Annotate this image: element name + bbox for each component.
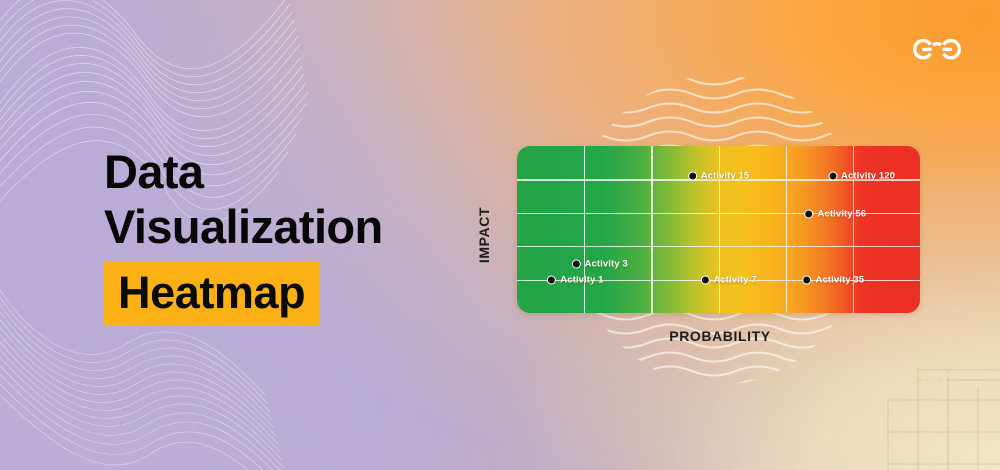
data-point-label: Activity 120: [841, 171, 895, 182]
heatmap-chart: Activity 15Activity 120Activity 56Activi…: [517, 146, 920, 313]
data-point-label: Activity 3: [584, 258, 627, 269]
heatmap-data-point[interactable]: Activity 1: [547, 274, 603, 285]
data-point-label: Activity 56: [818, 209, 867, 220]
data-point-dot-icon: [571, 259, 580, 268]
gridline-horizontal: [517, 246, 920, 247]
title-line-1: Data: [104, 144, 484, 199]
data-point-dot-icon: [828, 172, 837, 181]
data-point-dot-icon: [688, 172, 697, 181]
data-point-dot-icon: [547, 275, 556, 284]
title-line-2: Visualization: [104, 199, 484, 254]
data-point-dot-icon: [803, 275, 812, 284]
gfg-logo-icon: [906, 32, 968, 66]
gridline-vertical: [651, 146, 652, 313]
gridline-vertical: [786, 146, 787, 313]
geeksforgeeks-logo[interactable]: [906, 32, 968, 66]
data-point-label: Activity 35: [816, 274, 865, 285]
data-point-label: Activity 7: [713, 274, 756, 285]
heatmap-data-point[interactable]: Activity 35: [803, 274, 865, 285]
heatmap-data-point[interactable]: Activity 15: [688, 171, 750, 182]
banner-title-block: Data Visualization Heatmap: [104, 144, 484, 326]
data-point-label: Activity 15: [701, 171, 750, 182]
heatmap-data-point[interactable]: Activity 3: [571, 258, 627, 269]
axis-label-probability: PROBABILITY: [600, 328, 840, 344]
heatmap-data-point[interactable]: Activity 120: [828, 171, 895, 182]
data-point-dot-icon: [700, 275, 709, 284]
heatmap-data-point[interactable]: Activity 7: [700, 274, 756, 285]
banner-canvas: Data Visualization Heatmap Activity 15Ac…: [0, 0, 1000, 470]
data-point-label: Activity 1: [560, 274, 603, 285]
data-point-dot-icon: [805, 210, 814, 219]
title-highlight-heatmap: Heatmap: [104, 262, 319, 326]
gridline-vertical: [584, 146, 585, 313]
heatmap-data-point[interactable]: Activity 56: [805, 209, 867, 220]
axis-label-impact: IMPACT: [476, 190, 496, 280]
title-highlight-row: Heatmap: [104, 262, 484, 326]
